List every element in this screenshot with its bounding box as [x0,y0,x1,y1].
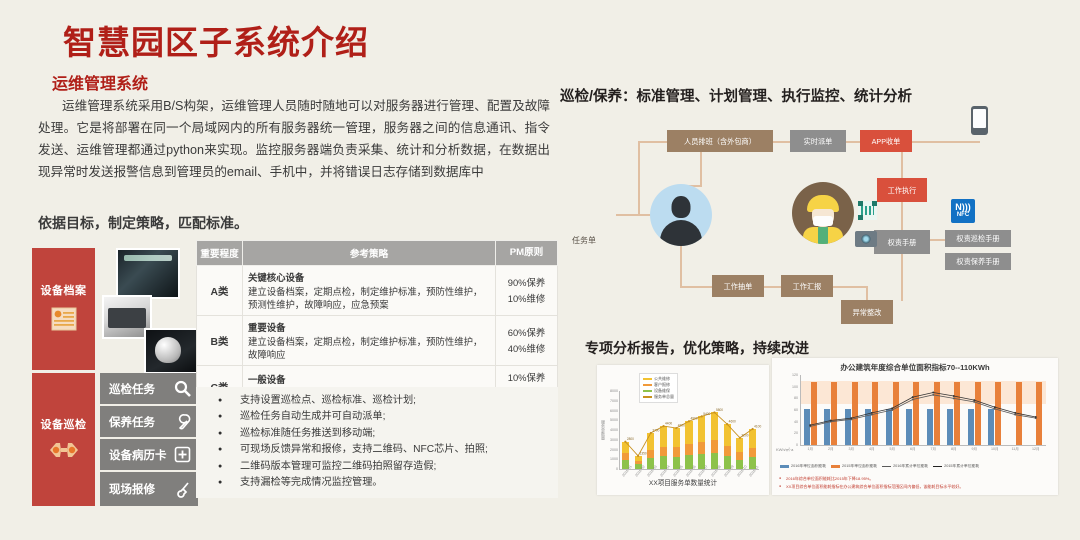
nfc-label: NFC [957,211,969,219]
chart-x-tick: 8月 [944,447,965,452]
flow-node-realtime-dispatch[interactable]: 实时派单 [790,130,846,152]
smartphone-icon [971,106,988,135]
list-item: 可现场反馈异常和报修，支持二维码、NFC芯片、拍照; [196,442,558,458]
strategy-heading: 一般设备 [248,372,490,386]
list-item: 巡检任务自动生成并可自动派单; [196,409,558,425]
avatar-mask [813,216,833,226]
chart-y-tick: 120 [786,373,798,377]
intro-paragraph-secondary: 依据目标，制定策略，匹配标准。 [38,213,550,233]
legend-swatch [643,384,652,387]
chart-x-axis [800,445,1046,446]
pm-maintain: 10%保养 [501,370,552,386]
sidebar-block-equipment-archive[interactable]: 设备档案 [32,248,95,370]
page-title: 智慧园区子系统介绍 [63,16,369,64]
search-icon [174,380,191,397]
pm-repair: 10%维修 [501,291,552,307]
sidebar-item-label: 保养任务 [109,414,155,430]
connector [930,239,945,241]
chart-y-tick: 1000 [600,457,618,461]
chart-y-tick: 5000 [600,418,618,422]
chart-y-axis-label: KWh/㎡·a [776,447,793,453]
svg-text:4200: 4200 [678,424,685,428]
pm-maintain: 90%保养 [501,275,552,291]
list-item: 二维码版本管理可监控二维码拍照留存造假; [196,459,558,475]
cell-level: B类 [197,316,243,366]
connector [773,141,790,143]
table-row: B类 重要设备 建立设备档案，定期点检，制定维护标准，预防性维护，故障响应 60… [197,316,558,366]
flow-node-work-execution[interactable]: 工作执行 [877,178,927,202]
chart-y-tick: 6000 [600,409,618,413]
connector [638,141,668,143]
connector [833,286,868,288]
svg-text:4900: 4900 [691,417,698,421]
section-subtitle: 运维管理系统 [52,70,148,94]
chart-x-tick: 2月 [821,447,842,452]
legend-label: 2016年单位面积能耗 [791,464,826,469]
avatar-head [672,196,691,218]
chart-notes: 2016年综合单位面积能耗比2015年下降18.95%。 XX项目综合单位面积能… [786,475,1052,490]
svg-text:5800: 5800 [716,408,723,412]
svg-text:2800: 2800 [627,437,634,441]
chart-y-tick: 8000 [600,389,618,393]
chart-line-series-group [800,375,1046,445]
sidebar-item-onsite-repair[interactable]: 现场报修 [100,472,198,506]
chart-line-series: 2800135037004400420049005400580046003200… [619,391,759,469]
chart-x-tick: 9月 [964,447,985,452]
analysis-section-title: 专项分析报告，优化策略，持续改进 [585,338,809,358]
chart-note: XX项目综合单位面积能耗指标在办公建筑综合单位面积指标范围区间内偏低，该能耗目标… [786,483,1052,491]
connector [866,286,868,301]
legend-label: 2015年单位面积能耗 [842,464,877,469]
connector [846,141,860,143]
sidebar-item-label: 现场报修 [109,481,155,497]
svg-text:5400: 5400 [703,412,710,416]
manager-avatar [650,184,712,246]
legend-entry: 2016年累计单位能耗 [882,464,928,469]
chart-x-tick: 5月 [882,447,903,452]
document-list-icon [51,307,77,336]
legend-swatch [643,378,652,381]
connector [616,214,652,216]
chart-note: 2016年综合单位面积能耗比2015年下降18.95%。 [786,475,1052,483]
strategy-table: 重要程度 参考策略 PM原则 A类 关键核心设备 建立设备档案，定期点检，制定维… [196,240,558,407]
connector [764,286,782,288]
flow-node-work-report[interactable]: 工作汇报 [781,275,833,297]
strategy-detail: 建立设备档案，定期点检，制定维护标准，预防性维护，故障响应 [248,335,490,361]
strategy-heading: 重要设备 [248,320,490,334]
sidebar-item-maintenance-task[interactable]: 保养任务 [100,406,198,438]
lamp-photo [146,330,198,372]
nfc-wave-glyph: N))) [955,203,971,211]
connector [700,152,702,186]
list-item: 巡检标准随任务推送到移动端; [196,426,558,442]
cell-pm: 90%保养 10%维修 [496,266,558,316]
connector [680,246,682,287]
server-room-photo [118,250,178,297]
svg-text:4100: 4100 [754,425,761,429]
sidebar-item-label: 巡检任务 [109,381,155,397]
chart-y-tick: 20 [786,431,798,435]
flow-node-app-receive-order[interactable]: APP收单 [860,130,912,152]
flow-node-abnormal-rectification[interactable]: 异常整改 [841,300,893,324]
cell-strategy: 关键核心设备 建立设备档案，定期点检，制定维护标准，预防性维护，预测性维护，故障… [243,266,496,316]
chart-plot-area: 0100020003000400050006000700080002016-01… [619,391,759,469]
sidebar-block-equipment-inspection[interactable]: 设备巡检 [32,373,95,506]
avatar-vest [803,227,843,244]
chart-title: 办公建筑年度综合单位面积指标70--110KWh [772,362,1058,373]
intro-paragraph: 运维管理系统采用B/S构架，运维管理人员随时随地可以对服务器进行管理、配置及故障… [38,95,550,183]
strategy-detail: 建立设备档案，定期点检，制定维护标准，预防性维护，预测性维护，故障响应，应急预案 [248,285,490,311]
chart-y-axis [800,375,801,445]
air-conditioner-photo [104,297,150,337]
chart-x-tick: 7月 [923,447,944,452]
flow-node-work-sampling[interactable]: 工作抽单 [712,275,764,297]
chart-x-tick: 12月 [1026,447,1047,452]
strategy-heading: 关键核心设备 [248,270,490,284]
chart-x-tick: 3月 [841,447,862,452]
chart-caption: XX项目服务单数量统计 [597,477,769,487]
legend-label: 2016年累计单位能耗 [893,464,928,469]
table-header-level: 重要程度 [197,241,243,266]
sidebar-item-equipment-record-card[interactable]: 设备病历卡 [100,439,198,471]
slide-root: 智慧园区子系统介绍 运维管理系统 运维管理系统采用B/S构架，运维管理人员随时随… [0,0,1080,540]
legend-swatch [882,466,891,467]
legend-swatch [780,465,789,468]
flow-node-inspection-manual[interactable]: 权责巡检手册 [945,230,1011,247]
flow-node-maintenance-manual[interactable]: 权责保养手册 [945,253,1011,270]
nfc-icon: N))) NFC [951,199,975,223]
chart-y-tick: 40 [786,420,798,424]
chart-y-tick: 3000 [600,438,618,442]
connector [680,286,713,288]
chart-y-tick: 2000 [600,448,618,452]
chart-energy-index: 办公建筑年度综合单位面积指标70--110KWh KWh/㎡·a 1月2月3月4… [772,358,1058,495]
legend-entry: 2016年单位面积能耗 [780,464,826,469]
chart-y-tick: 0 [786,443,798,447]
connector [638,141,640,215]
feature-bullet-list: 支持设置巡检点、巡检标准、巡检计划; 巡检任务自动生成并可自动派单; 巡检标准随… [196,387,558,498]
table-header-pm: PM原则 [496,241,558,266]
chart-y-tick: 7000 [600,399,618,403]
screwdriver-icon [174,481,191,498]
sidebar-item-label: 设备病历卡 [109,447,167,463]
chart-y-tick: 100 [786,385,798,389]
chart-service-order-count: 公共维修 客户报修 设备维保 服务单总量 服务单数量 0100020003000… [597,365,769,495]
chart-x-tick: 6月 [903,447,924,452]
legend-entry: 2015年累计单位能耗 [933,464,979,469]
sidebar-block-label: 设备档案 [41,282,87,298]
cell-level: A类 [197,266,243,316]
svg-text:4400: 4400 [665,422,672,426]
svg-text:1350: 1350 [640,451,647,455]
sidebar-block-label: 设备巡检 [41,416,87,432]
camera-icon [855,231,877,247]
plus-card-icon [174,446,191,463]
cell-strategy: 重要设备 建立设备档案，定期点检，制定维护标准，预防性维护，故障响应 [243,316,496,366]
chart-plot-area: 1月2月3月4月5月6月7月8月9月10月11月12月0204060801001… [800,375,1046,445]
legend-label: 2015年累计单位能耗 [944,464,979,469]
svg-text:3200: 3200 [741,433,748,437]
connector [912,141,980,143]
binoculars-icon [49,441,79,464]
chart-y-tick: 80 [786,396,798,400]
legend-swatch [933,466,942,467]
flowchart-title: 巡检/保养：标准管理、计划管理、执行监控、统计分析 [560,85,912,106]
avatar-body [660,220,702,246]
chart-x-tick: 10月 [985,447,1006,452]
pm-maintain: 60%保养 [501,325,552,341]
qr-code-icon [858,201,877,220]
chart-x-tick: 1月 [800,447,821,452]
svg-text:3700: 3700 [652,428,659,432]
chart-legend: 2016年单位面积能耗 2015年单位面积能耗 2016年累计单位能耗 2015… [780,464,1052,469]
wrench-icon [174,413,191,430]
sidebar-item-inspection-task[interactable]: 巡检任务 [100,373,198,405]
flow-node-staff-scheduling[interactable]: 人员排班（含外包商） [667,130,773,152]
chart-x-tick: 4月 [862,447,883,452]
svg-text:4600: 4600 [729,420,736,424]
legend-entry: 2015年单位面积能耗 [831,464,877,469]
cell-pm: 60%保养 40%维修 [496,316,558,366]
worker-avatar [792,182,854,244]
chart-y-tick: 60 [786,408,798,412]
chart-x-tick: 11月 [1005,447,1026,452]
chart-y-tick: 0 [600,467,618,471]
flow-node-responsibility-manual[interactable]: 权责手册 [874,230,930,254]
list-item: 支持设置巡检点、巡检标准、巡检计划; [196,393,558,409]
chart-x-axis [619,469,759,470]
table-header-strategy: 参考策略 [243,241,496,266]
pm-repair: 40%维修 [501,341,552,357]
chart-y-tick: 4000 [600,428,618,432]
legend-swatch [831,465,840,468]
task-order-label: 任务单 [572,235,596,246]
table-row: A类 关键核心设备 建立设备档案，定期点检，制定维护标准，预防性维护，预测性维护… [197,266,558,316]
chart-y-axis [619,391,620,469]
table-header-row: 重要程度 参考策略 PM原则 [197,241,558,266]
list-item: 支持漏检等完成情况监控管理。 [196,475,558,491]
